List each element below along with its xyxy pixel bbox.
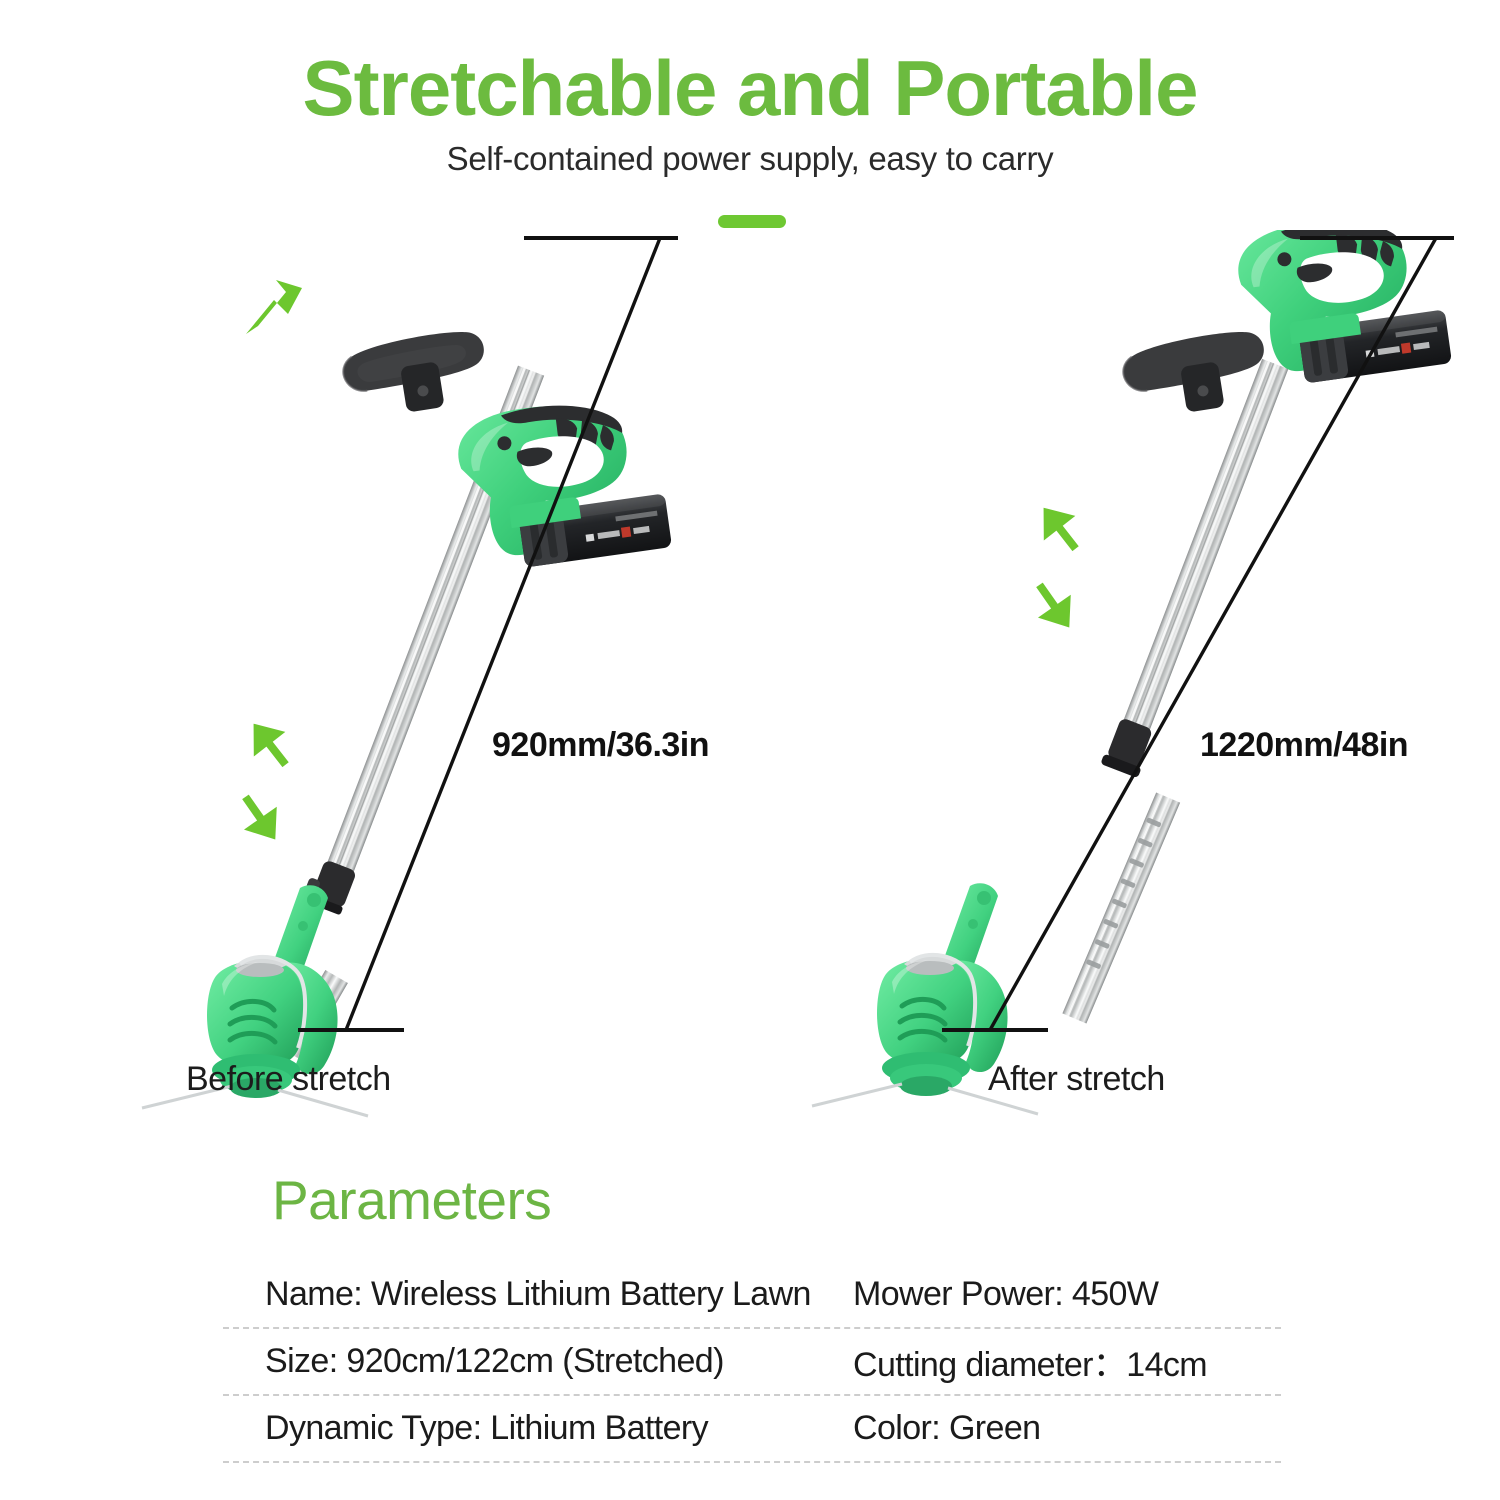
param-dynamic-type-label: Dynamic Type: Lithium Battery [223,1409,853,1448]
accent-divider [718,215,786,228]
table-row: Dynamic Type: Lithium Battery Color: Gre… [223,1396,1281,1463]
table-row: Size: 920cm/122cm (Stretched) Cutting di… [223,1329,1281,1396]
table-row: Name: Wireless Lithium Battery Lawn Mowe… [223,1262,1281,1329]
dimension-label-after: 1220mm/48in [1200,726,1408,765]
param-cutting-diameter-label: Cutting diameter：14cm [853,1337,1281,1386]
param-color-label: Color: Green [853,1409,1281,1448]
trimmer-extended-illustration [800,230,1480,1130]
page-title: Stretchable and Portable [0,48,1500,130]
parameters-table: Name: Wireless Lithium Battery Lawn Mowe… [223,1262,1281,1463]
trimmer-collapsed-illustration [120,230,740,1130]
product-infographic: Stretchable and Portable Self-contained … [0,0,1500,1500]
param-size-label: Size: 920cm/122cm (Stretched) [223,1342,853,1381]
panel-before-stretch: 920mm/36.3in Before stretch [120,230,740,1130]
caption-before-stretch: Before stretch [186,1060,391,1099]
panel-after-stretch: 1220mm/48in After stretch [800,230,1480,1130]
caption-after-stretch: After stretch [988,1060,1165,1099]
dimension-label-before: 920mm/36.3in [492,726,709,765]
param-power-label: Mower Power: 450W [853,1275,1281,1314]
arrow-up-icon [246,280,302,334]
page-subtitle: Self-contained power supply, easy to car… [0,140,1500,178]
param-name-label: Name: Wireless Lithium Battery Lawn [223,1275,853,1314]
parameters-heading: Parameters [272,1168,551,1232]
